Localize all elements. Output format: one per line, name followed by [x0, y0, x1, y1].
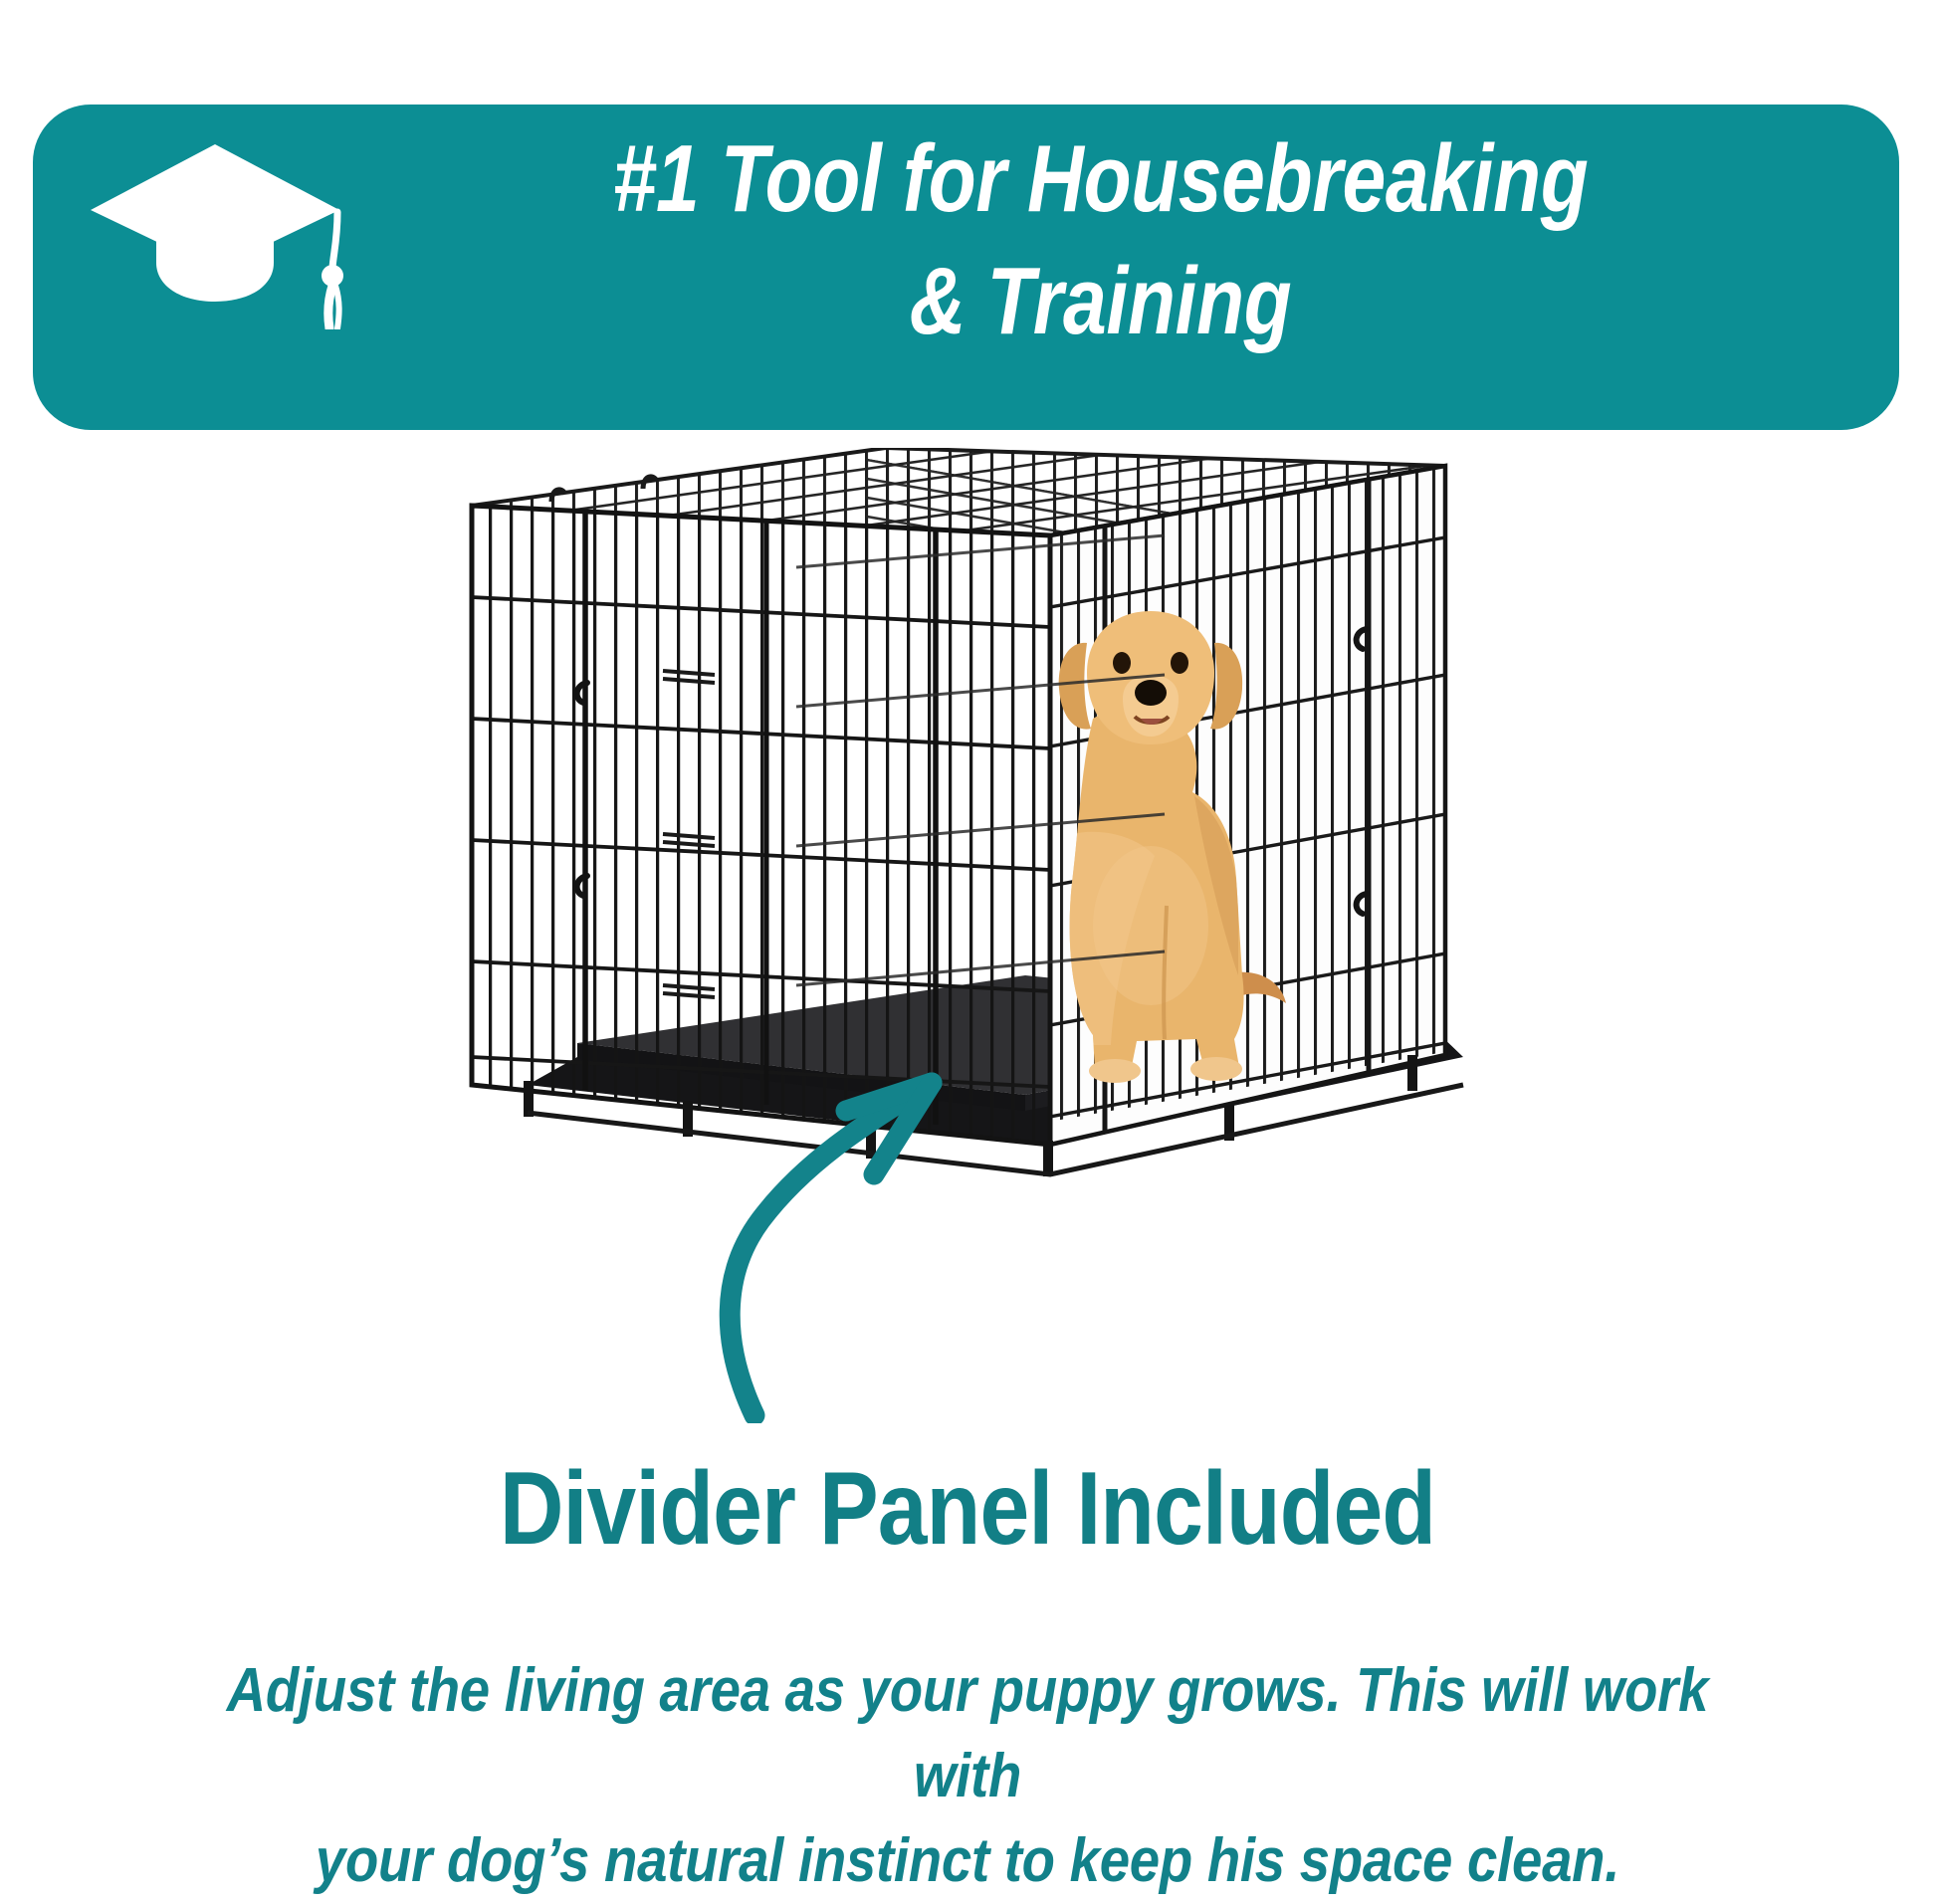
graduation-cap-icon: [85, 130, 353, 329]
dog-crate-image: [468, 448, 1473, 1324]
promo-banner: #1 Tool for Housebreaking & Training: [33, 105, 1899, 430]
product-photo: [0, 438, 1935, 1413]
feature-heading: Divider Panel Included: [135, 1457, 1800, 1561]
crate-front-panel: [468, 466, 1085, 1227]
feature-description: Adjust the living area as your puppy gro…: [195, 1648, 1740, 1904]
banner-title: #1 Tool for Housebreaking & Training: [495, 118, 1707, 363]
